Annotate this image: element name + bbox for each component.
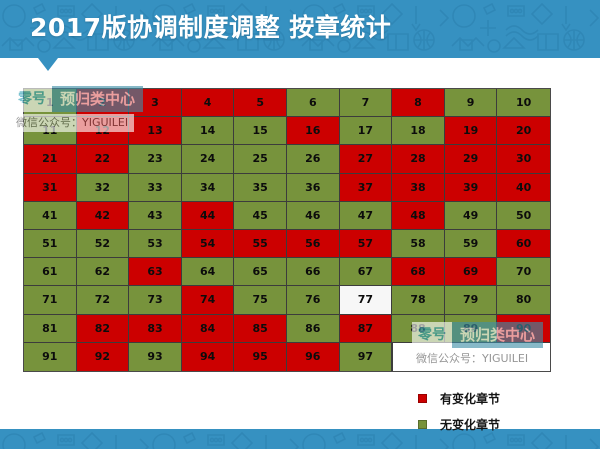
grid-cell: 21: [24, 145, 77, 173]
grid-cell: 53: [129, 230, 182, 258]
grid-cell: 89: [445, 315, 498, 343]
grid-cell: 35: [234, 174, 287, 202]
grid-cell: 25: [234, 145, 287, 173]
grid-cell: 92: [77, 343, 130, 371]
grid-cell: 66: [287, 258, 340, 286]
grid-cell: 70: [497, 258, 550, 286]
grid-cell: 67: [340, 258, 393, 286]
grid-cell: 63: [129, 258, 182, 286]
grid-cell: 27: [340, 145, 393, 173]
grid-cell: 73: [129, 286, 182, 314]
chapter-grid: 1234567891011121314151617181920212223242…: [23, 88, 551, 372]
grid-cell: 38: [392, 174, 445, 202]
grid-cell: 1: [24, 89, 77, 117]
grid-cell: 8: [392, 89, 445, 117]
grid-cell: 58: [392, 230, 445, 258]
grid-cell: 15: [234, 117, 287, 145]
grid-cell: 42: [77, 202, 130, 230]
grid-cell: 9: [445, 89, 498, 117]
grid-cell: 71: [24, 286, 77, 314]
grid-cell: 77: [340, 286, 393, 314]
grid-cell: 95: [234, 343, 287, 371]
grid-cell: 2: [77, 89, 130, 117]
grid-cell: 96: [287, 343, 340, 371]
grid-cell: 26: [287, 145, 340, 173]
grid-cell: 7: [340, 89, 393, 117]
grid-cell-empty: [392, 343, 445, 371]
grid-cell: 84: [182, 315, 235, 343]
grid-cell: 61: [24, 258, 77, 286]
grid-cell: 86: [287, 315, 340, 343]
grid-cell: 16: [287, 117, 340, 145]
grid-cell: 82: [77, 315, 130, 343]
grid-cell: 24: [182, 145, 235, 173]
grid-cell: 3: [129, 89, 182, 117]
footer-bar: [0, 429, 600, 449]
changed-swatch-icon: [418, 394, 427, 403]
grid-cell: 33: [129, 174, 182, 202]
grid-cell: 31: [24, 174, 77, 202]
grid-cell: 4: [182, 89, 235, 117]
page-title: 2017版协调制度调整 按章统计: [30, 8, 391, 44]
grid-cell: 32: [77, 174, 130, 202]
grid-cell: 54: [182, 230, 235, 258]
grid-cell: 47: [340, 202, 393, 230]
grid-cell: 29: [445, 145, 498, 173]
legend: 有变化章节 无变化章节: [418, 390, 500, 442]
grid-cell: 48: [392, 202, 445, 230]
grid-cell: 14: [182, 117, 235, 145]
grid-cell: 94: [182, 343, 235, 371]
grid-cell: 59: [445, 230, 498, 258]
legend-item-unchanged: 无变化章节: [418, 416, 500, 433]
grid-cell: 55: [234, 230, 287, 258]
grid-cell: 88: [392, 315, 445, 343]
grid-cell: 91: [24, 343, 77, 371]
grid-cell: 57: [340, 230, 393, 258]
grid-cell: 62: [77, 258, 130, 286]
grid-cell: 12: [77, 117, 130, 145]
grid-cell: 43: [129, 202, 182, 230]
grid-cell: 36: [287, 174, 340, 202]
grid-cell: 97: [340, 343, 393, 371]
grid-cell: 19: [445, 117, 498, 145]
header-bar: 2017版协调制度调整 按章统计: [0, 0, 600, 58]
grid-cell: 46: [287, 202, 340, 230]
footer-pattern-icon: [0, 429, 600, 449]
grid-cell: 75: [234, 286, 287, 314]
grid-cell: 20: [497, 117, 550, 145]
grid-cell: 10: [497, 89, 550, 117]
grid-cell: 51: [24, 230, 77, 258]
grid-cell-empty: [445, 343, 498, 371]
grid-cell: 64: [182, 258, 235, 286]
grid-cell: 79: [445, 286, 498, 314]
grid-cell: 65: [234, 258, 287, 286]
legend-item-changed: 有变化章节: [418, 390, 500, 407]
grid-cell: 93: [129, 343, 182, 371]
grid-cell: 72: [77, 286, 130, 314]
grid-cell: 60: [497, 230, 550, 258]
grid-cell: 87: [340, 315, 393, 343]
grid-cell: 13: [129, 117, 182, 145]
grid-cell: 56: [287, 230, 340, 258]
grid-cell: 22: [77, 145, 130, 173]
grid-cell: 44: [182, 202, 235, 230]
grid-cell: 74: [182, 286, 235, 314]
grid-cell: 68: [392, 258, 445, 286]
grid-cell: 49: [445, 202, 498, 230]
grid-cell: 17: [340, 117, 393, 145]
grid-cell: 81: [24, 315, 77, 343]
grid-cell: 39: [445, 174, 498, 202]
grid-cell: 69: [445, 258, 498, 286]
grid-cell: 23: [129, 145, 182, 173]
grid-cell: 11: [24, 117, 77, 145]
grid-cell: 45: [234, 202, 287, 230]
grid-cell: 37: [340, 174, 393, 202]
legend-label-unchanged: 无变化章节: [440, 416, 500, 433]
grid-cell: 34: [182, 174, 235, 202]
grid-cell: 18: [392, 117, 445, 145]
grid-cell: 80: [497, 286, 550, 314]
legend-label-changed: 有变化章节: [440, 390, 500, 407]
grid-cell: 6: [287, 89, 340, 117]
grid-cell: 85: [234, 315, 287, 343]
grid-cell: 83: [129, 315, 182, 343]
grid-cell: 28: [392, 145, 445, 173]
grid-cell: 50: [497, 202, 550, 230]
grid-cell: 5: [234, 89, 287, 117]
grid-cell: 78: [392, 286, 445, 314]
grid-cell: 52: [77, 230, 130, 258]
grid-cell: 30: [497, 145, 550, 173]
grid-cell: 76: [287, 286, 340, 314]
grid-cell: 90: [497, 315, 550, 343]
header-notch-triangle-icon: [38, 58, 58, 71]
unchanged-swatch-icon: [418, 420, 427, 429]
grid-cell: 40: [497, 174, 550, 202]
grid-cell-empty: [497, 343, 550, 371]
grid-cell: 41: [24, 202, 77, 230]
